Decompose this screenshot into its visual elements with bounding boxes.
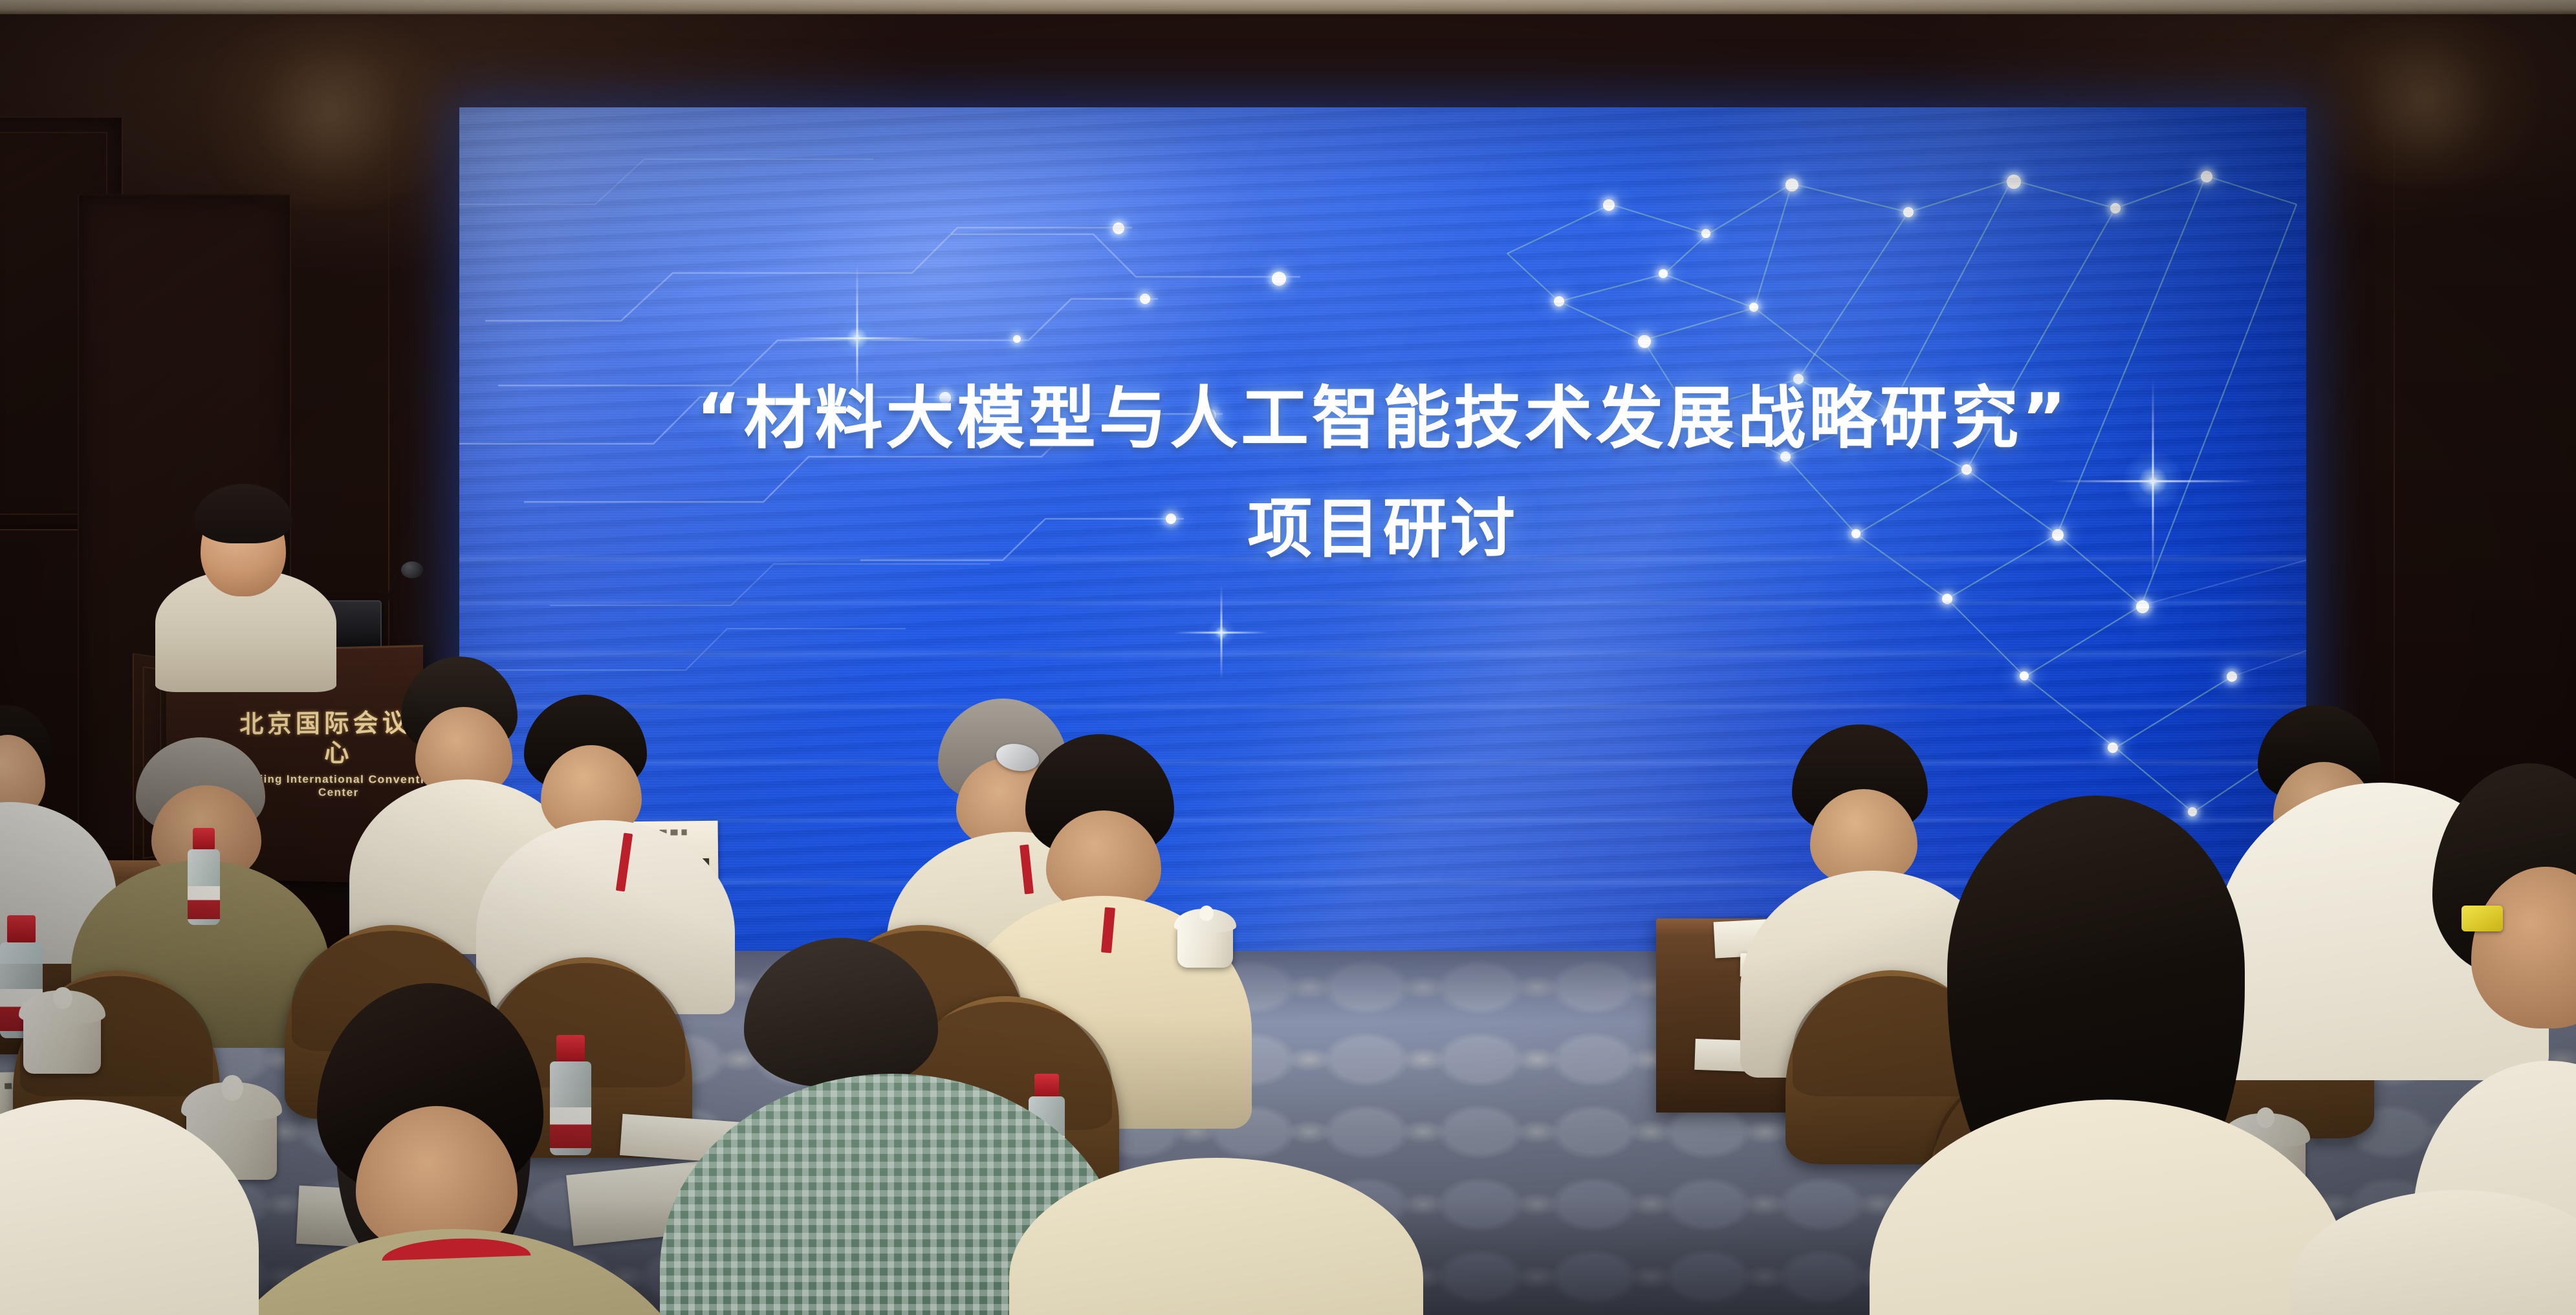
led-band [459, 648, 2306, 660]
led-band [459, 758, 2306, 767]
glow-node [2188, 807, 2197, 816]
lens-flare [1207, 618, 1236, 647]
bottle-label [188, 886, 220, 919]
glow-node [2201, 171, 2212, 182]
water-bottle [550, 1035, 591, 1155]
glow-node [2108, 743, 2118, 753]
glow-node [1961, 464, 1972, 475]
bottle-cap [1034, 1074, 1059, 1096]
teacup-knob [221, 1075, 243, 1101]
microphone-icon [401, 561, 423, 578]
glow-node [1903, 207, 1914, 217]
teacup [1177, 899, 1233, 968]
glow-node [1659, 269, 1668, 278]
led-band [459, 599, 2306, 607]
lens-flare [835, 316, 880, 361]
glow-node [1140, 294, 1150, 304]
glow-node [1749, 303, 1758, 312]
glow-node [1638, 335, 1651, 348]
glow-node [1701, 229, 1710, 238]
glow-node [1942, 594, 1952, 604]
glow-node [2007, 175, 2021, 189]
glow-node [1272, 272, 1286, 286]
glow-node [2227, 671, 2237, 682]
led-band [459, 702, 2306, 710]
glow-node [2136, 600, 2149, 613]
teacup-knob [1199, 906, 1214, 921]
bottle-cap [7, 915, 36, 942]
glow-node [1603, 199, 1615, 211]
conference-hall-photo: “材料大模型与人工智能技术发展战略研究” 项目研讨 北京国际会议中心 Beiji… [0, 0, 2576, 1315]
teacup-knob [2256, 1107, 2275, 1128]
glow-node [2020, 671, 2029, 680]
bottle-cap [556, 1035, 585, 1061]
slide-title: “材料大模型与人工智能技术发展战略研究” [459, 364, 2306, 462]
glow-node [1554, 296, 1564, 307]
glow-node [1785, 179, 1798, 191]
bottle-cap [193, 828, 215, 849]
glasses-icon [2461, 906, 2503, 931]
teacup-knob [53, 987, 72, 1009]
glow-node [2110, 203, 2121, 213]
glow-node [1013, 335, 1021, 343]
bottle-label [550, 1107, 591, 1148]
teacup [23, 977, 101, 1074]
slide-subtitle: 项目研讨 [459, 476, 2306, 570]
glow-node [1113, 223, 1124, 234]
water-bottle [188, 828, 220, 925]
